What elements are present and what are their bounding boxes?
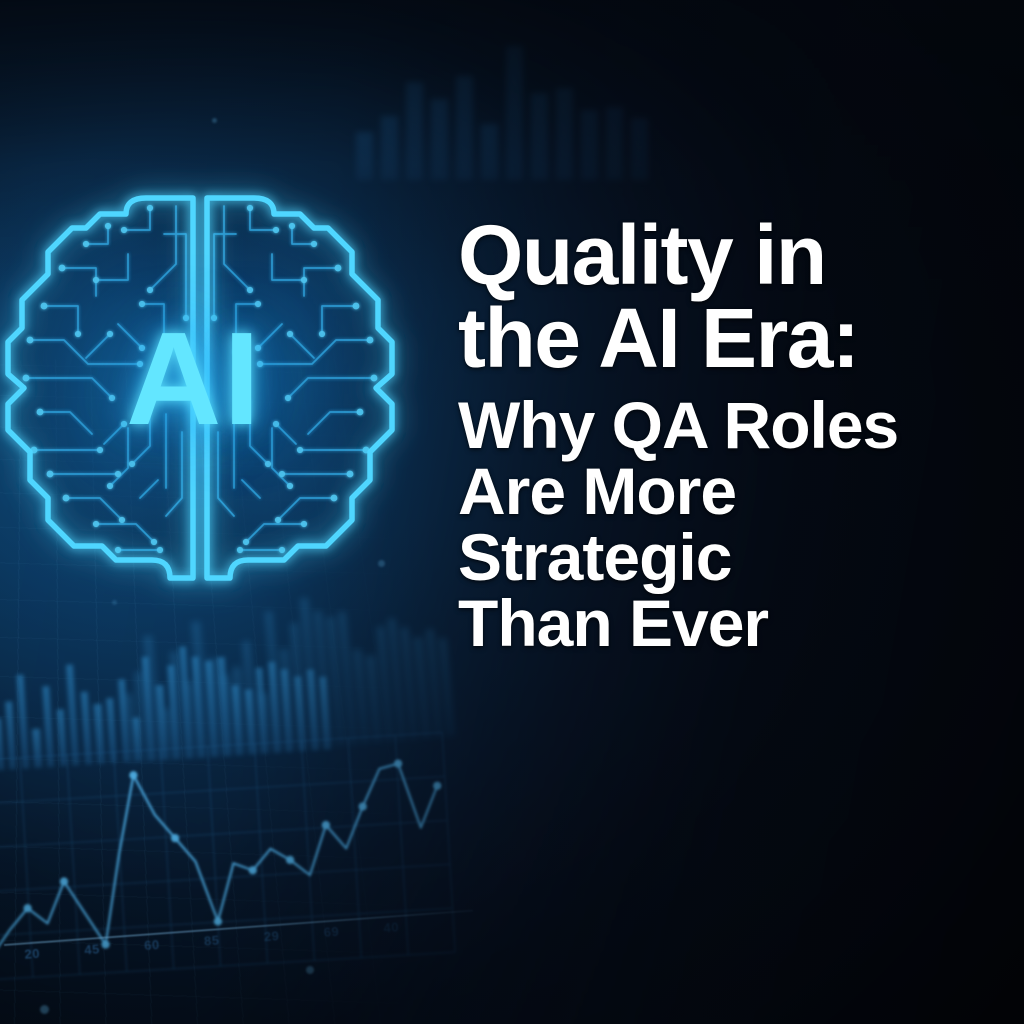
subtitle-line-1: Why QA Roles [458, 392, 992, 458]
ai-monogram-label: AI [126, 313, 262, 445]
page-title: Quality in the AI Era: [458, 214, 992, 380]
subtitle-line-2: Are More [458, 458, 992, 524]
title-line-1: Quality in [458, 214, 992, 297]
ai-brain-emblem: AI [0, 168, 400, 598]
bokeh-dot [212, 118, 217, 123]
poster-canvas: 20456085296940 [0, 0, 1024, 1024]
bokeh-dot [112, 600, 117, 605]
title-line-2: the AI Era: [458, 297, 992, 380]
bokeh-dot [306, 966, 314, 974]
headline-block: Quality in the AI Era: Why QA Roles Are … [458, 214, 992, 656]
subtitle-line-3: Strategic [458, 524, 992, 590]
subtitle-line-4: Than Ever [458, 590, 992, 656]
ai-monogram: AI [0, 168, 400, 598]
page-subtitle: Why QA Roles Are More Strategic Than Eve… [458, 392, 992, 656]
bokeh-dot [40, 1005, 49, 1014]
